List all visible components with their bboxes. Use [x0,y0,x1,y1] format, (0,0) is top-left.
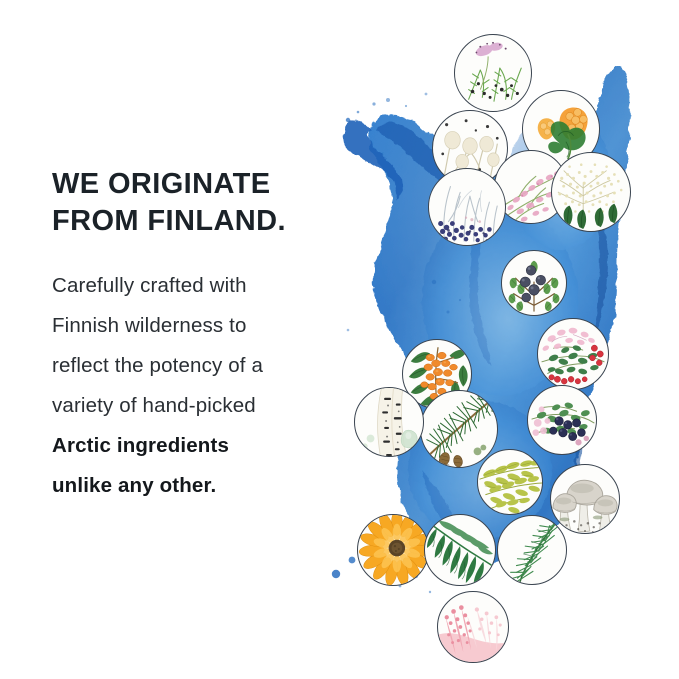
ingredient-circle-birch-bark[interactable] [354,387,424,457]
juniper-icon [502,251,566,315]
fireweed-icon [438,592,508,662]
ingredient-circle-elderflower-umbel[interactable] [551,152,631,232]
text-block: WE ORIGINATE FROM FINLAND. Carefully cra… [52,166,352,506]
bilberry-berry-icon [528,386,596,454]
ingredient-circle-bilberry-and-blossom[interactable] [527,385,597,455]
body-line-5-emphasis: Arctic ingredients [52,426,352,466]
ingredient-circle-spruce-fir-frond[interactable] [424,514,496,586]
ingredient-circle-blueberry-bilberry-shrub[interactable] [428,168,506,246]
ingredient-circle-lingonberry-and-blossom[interactable] [537,318,609,390]
headline-line-1: WE ORIGINATE [52,166,352,203]
fir-frond-icon [425,515,495,585]
body-line-3: reflect the potency of a [52,346,352,386]
ingredient-circle-rowan-leaves[interactable] [477,449,543,515]
body-line-4: variety of hand-picked [52,386,352,426]
watercolor-map-of-finland [330,0,679,679]
ingredient-circle-juniper-berries-branch[interactable] [501,250,567,316]
lingonberry-icon [538,319,608,389]
body-copy: Carefully crafted with Finnish wildernes… [52,266,352,506]
marigold-icon [358,515,428,585]
ingredient-circle-pink-fireweed-meadow[interactable] [437,591,509,663]
ingredient-circle-calendula-marigold-flower[interactable] [357,514,429,586]
finland-origin-poster: WE ORIGINATE FROM FINLAND. Carefully cra… [0,0,679,679]
bilberry-shrub-icon [429,169,505,245]
elderflower-icon [552,153,630,231]
body-line-2: Finnish wilderness to [52,306,352,346]
page-title: WE ORIGINATE FROM FINLAND. [52,166,352,240]
ingredient-circle-spruce-sprig[interactable] [497,515,567,585]
spruce-sprig-icon [498,516,566,584]
headline-line-2: FROM FINLAND. [52,203,352,240]
rowan-leaf-icon [478,450,542,514]
heather-sprig-icon [455,35,531,111]
ingredient-circle-crowberry-heather-sprigs[interactable] [454,34,532,112]
body-line-1: Carefully crafted with [52,266,352,306]
birch-bark-icon [355,388,423,456]
body-line-6-emphasis: unlike any other. [52,466,352,506]
